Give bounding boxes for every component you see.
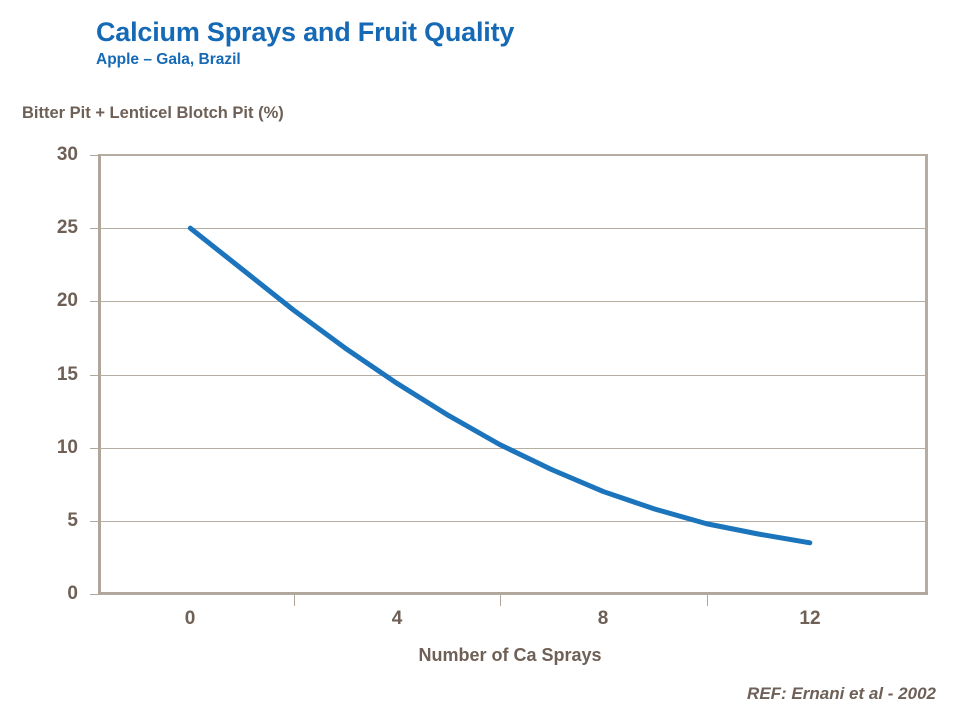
y-axis-title: Bitter Pit + Lenticel Blotch Pit (%) (22, 104, 284, 123)
x-tick-label-12: 12 (780, 608, 840, 630)
y-tick-label-25: 25 (38, 217, 78, 239)
y-tick-label-10: 10 (38, 437, 78, 459)
y-tick-0 (90, 594, 99, 595)
x-tick-label-4: 4 (367, 608, 427, 630)
x-tick-label-0: 0 (160, 608, 220, 630)
y-tick-5 (90, 521, 99, 522)
x-tick-12 (707, 595, 708, 606)
x-tick-8 (500, 595, 501, 606)
y-tick-30 (90, 155, 99, 156)
gridline-y-10 (100, 448, 926, 449)
gridline-y-15 (100, 375, 926, 376)
y-tick-label-20: 20 (38, 290, 78, 312)
y-tick-label-15: 15 (38, 364, 78, 386)
y-tick-25 (90, 228, 99, 229)
y-tick-10 (90, 448, 99, 449)
y-tick-label-0: 0 (38, 583, 78, 605)
plot-border-top (100, 154, 928, 156)
gridline-y-20 (100, 301, 926, 302)
y-tick-label-5: 5 (38, 510, 78, 532)
x-axis-title: Number of Ca Sprays (0, 645, 960, 666)
gridline-y-0 (100, 594, 926, 595)
series-line-bitter-pit (190, 228, 810, 543)
x-axis-title-text: Number of Ca Sprays (418, 645, 601, 665)
gridline-y-25 (100, 228, 926, 229)
gridline-y-5 (100, 521, 926, 522)
y-tick-label-30: 30 (38, 144, 78, 166)
reference-note: REF: Ernani et al - 2002 (747, 684, 936, 704)
x-tick-4 (294, 595, 295, 606)
x-tick-label-8: 8 (573, 608, 633, 630)
chart-canvas: Calcium Sprays and Fruit Quality Apple –… (0, 0, 960, 720)
page-subtitle: Apple – Gala, Brazil (96, 51, 514, 68)
y-tick-20 (90, 301, 99, 302)
y-tick-15 (90, 375, 99, 376)
page-title: Calcium Sprays and Fruit Quality (96, 18, 514, 46)
title-block: Calcium Sprays and Fruit Quality Apple –… (96, 18, 514, 68)
